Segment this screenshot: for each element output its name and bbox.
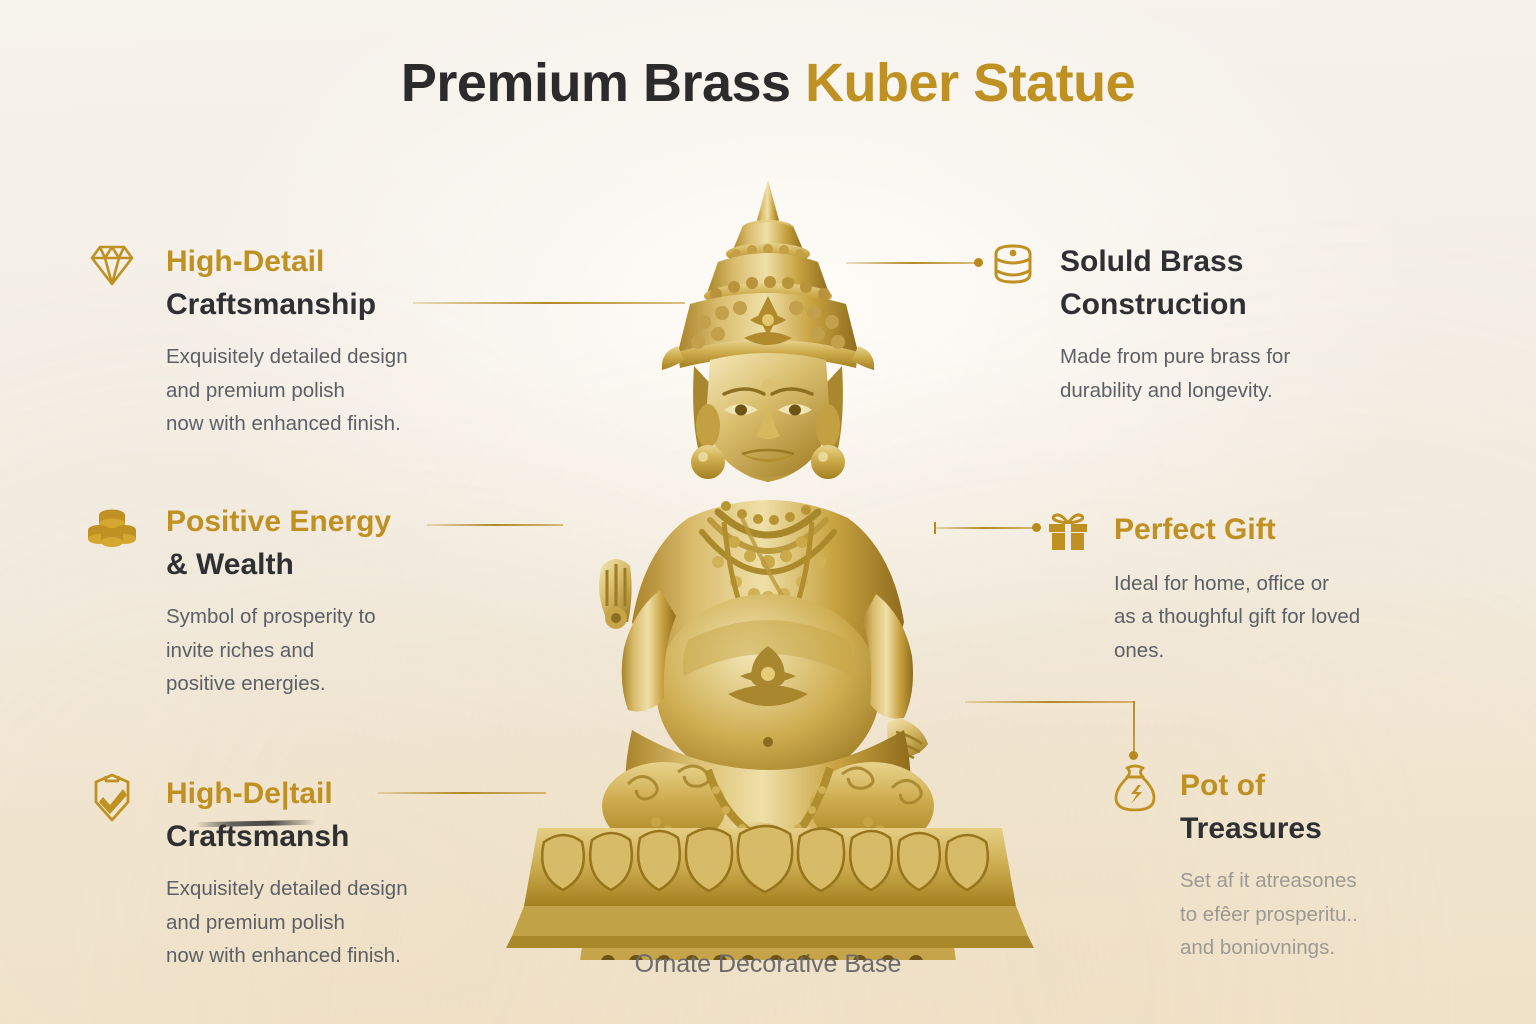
connector-line-perfect-gift bbox=[934, 527, 1036, 529]
base-caption: Ornate Decorative Base bbox=[0, 950, 1536, 979]
description-line: durability and longevity. bbox=[1060, 374, 1422, 407]
description-line: ones. bbox=[1114, 634, 1446, 667]
diamond-icon bbox=[88, 242, 136, 293]
brass-pot-icon bbox=[992, 242, 1034, 291]
page-title: Premium Brass Kuber Statue bbox=[0, 52, 1536, 114]
feature-heading-line2: Treasures bbox=[1180, 807, 1472, 850]
feature-heading-line1: Pot of bbox=[1180, 764, 1472, 807]
feature-heading-line1: High-De|tail bbox=[166, 772, 468, 815]
description-line: Ideal for home, office or bbox=[1114, 567, 1446, 600]
description-line: Symbol of prosperity to bbox=[166, 600, 468, 633]
feature-heading-line2: Construction bbox=[1060, 283, 1422, 326]
feature-high-detail-craftsmanship-duplicate: High-De|tail Craftsmansh Exquisitely det… bbox=[88, 772, 468, 972]
feature-heading-line1: Positive Energy bbox=[166, 500, 468, 543]
feature-positive-energy-wealth: Positive Energy & Wealth Symbol of prosp… bbox=[88, 500, 468, 700]
feature-heading-line2: Craftsmansh bbox=[166, 815, 349, 858]
connector-line-pot-of-treasures-vertical bbox=[1133, 701, 1135, 755]
infographic-canvas: Premium Brass Kuber Statue bbox=[0, 0, 1536, 1024]
feature-heading-line1: Perfect Gift bbox=[1114, 508, 1446, 551]
feature-description: Ideal for home, office or as a thoughful… bbox=[1114, 567, 1446, 667]
feature-heading-line2: & Wealth bbox=[166, 543, 468, 586]
description-line: and premium polish bbox=[166, 906, 468, 939]
feature-description: Exquisitely detailed design and premium … bbox=[166, 340, 468, 440]
connector-dot-solid-brass bbox=[974, 258, 983, 267]
description-line: Made from pure brass for bbox=[1060, 340, 1422, 373]
description-line: and premium polish bbox=[166, 374, 468, 407]
gift-box-icon bbox=[1046, 510, 1090, 557]
feature-description: Symbol of prosperity to invite riches an… bbox=[166, 600, 468, 700]
description-line: invite riches and bbox=[166, 634, 468, 667]
feature-heading-line2: Craftsmanship bbox=[166, 283, 468, 326]
feature-description: Made from pure brass for durability and … bbox=[1060, 340, 1422, 406]
feature-heading-line1: Soluld Brass bbox=[1060, 240, 1422, 283]
description-line: as a thoughful gift for loved bbox=[1114, 600, 1446, 633]
connector-dot-pot-of-treasures bbox=[1129, 751, 1138, 760]
description-line: Exquisitely detailed design bbox=[166, 340, 468, 373]
description-line: Exquisitely detailed design bbox=[166, 872, 468, 905]
shield-check-icon bbox=[88, 772, 136, 829]
lotus-base bbox=[500, 820, 1040, 960]
feature-perfect-gift: Perfect Gift Ideal for home, office or a… bbox=[1046, 508, 1446, 667]
connector-line-solid-brass bbox=[846, 262, 978, 264]
feature-pot-of-treasures: Pot of Treasures Set af it atreasones to… bbox=[1112, 764, 1472, 964]
connector-line-pot-of-treasures-horizontal bbox=[965, 701, 1135, 703]
title-part-accent: Kuber Statue bbox=[805, 53, 1135, 113]
feature-high-detail-craftsmanship: High-Detail Craftsmanship Exquisitely de… bbox=[88, 240, 468, 440]
title-part-primary: Premium Brass bbox=[401, 53, 805, 113]
feature-heading-line1: High-Detail bbox=[166, 240, 468, 283]
description-line: Set af it atreasones bbox=[1180, 864, 1472, 897]
description-line: now with enhanced finish. bbox=[166, 407, 468, 440]
connector-dot-perfect-gift bbox=[1032, 523, 1041, 532]
description-line: to efêer prosperitu.. bbox=[1180, 898, 1472, 931]
money-bag-icon bbox=[1112, 764, 1158, 819]
coins-stack-icon bbox=[88, 506, 136, 553]
feature-solid-brass-construction: Soluld Brass Construction Made from pure… bbox=[992, 240, 1422, 407]
description-line: positive energies. bbox=[166, 667, 468, 700]
